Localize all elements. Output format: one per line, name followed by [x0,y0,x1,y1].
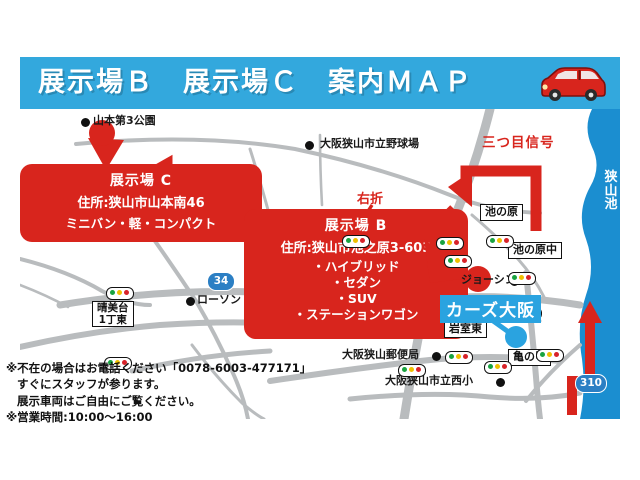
poi-marker-lawson [186,297,195,306]
traffic-light-icon [486,235,514,248]
poi-label-nishi-elementary: 大阪狭山市立西小 [385,375,473,387]
intersection-label-line1: 晴美台 [97,302,129,314]
page-title: 展示場Ｂ 展示場Ｃ 案内ＭＡＰ [38,62,548,104]
callout-b-vehicle-item: ・ステーションワゴン [244,307,468,323]
dealer-name-highlight: カーズ大阪 [440,295,541,323]
intersection-label-harumidai: 晴美台 1丁東 [92,301,134,327]
poi-label-post-office: 大阪狭山郵便局 [342,349,419,361]
map-flyer: 展示場Ｂ 展示場Ｃ 案内ＭＡＰ [0,0,640,480]
traffic-light-icon [445,351,473,364]
header-banner: 展示場Ｂ 展示場Ｃ 案内ＭＡＰ [20,57,620,109]
note-line-4: ※営業時間:10:00〜16:00 [6,409,306,425]
poi-label-lawson: ローソン [197,294,241,306]
red-car-icon [536,63,608,103]
poi-label-yamamoto-park: 山本第3公園 [93,115,156,127]
route-shield-34: 34 [207,272,235,291]
poi-marker-baseball-stadium [305,141,314,150]
callout-exhibit-b: 展示場 B 住所:狭山市池之原3-603 ・ハイブリッド ・セダン ・SUV ・… [244,209,468,339]
callout-c-address: 住所:狭山市山本南46 [20,192,262,211]
poi-label-baseball-stadium: 大阪狭山市立野球場 [320,138,419,150]
water-label-sayama-pond: 狭山池 [603,171,619,212]
traffic-light-icon [436,237,464,250]
callout-c-name: 展示場 C [20,170,262,190]
intersection-label-ikenohara: 池の原 [480,204,523,221]
traffic-light-icon [444,255,472,268]
poi-marker-nishi-elementary [496,378,505,387]
poi-marker-yamamoto-park [81,118,90,127]
note-line-2: すぐにスタッフが参ります。 [6,376,306,392]
traffic-light-icon [106,287,134,300]
dealer-location-dot [505,326,527,348]
footer-notes: ※不在の場合はお電話ください「0078-6003-477171」 すぐにスタッフ… [6,360,306,425]
note-line-1: ※不在の場合はお電話ください「0078-6003-477171」 [6,360,306,376]
annotation-turn-right: 右折 [357,188,383,207]
intersection-label-iwamuro-higashi: 岩室東 [444,321,487,338]
traffic-light-icon [484,361,512,374]
intersection-label-ikenohara-naka: 池の原中 [508,242,562,259]
traffic-light-icon [398,364,426,377]
intersection-label-line2: 1丁東 [97,314,129,326]
note-line-3: 展示車両はご自由にご覧ください。 [6,393,306,409]
route-shield-310: 310 [575,374,607,393]
callout-c-vehicles: ミニバン・軽・コンパクト [20,213,262,232]
traffic-light-icon [536,349,564,362]
poi-marker-post-office [432,352,441,361]
traffic-light-icon [508,272,536,285]
callout-exhibit-c: 展示場 C 住所:狭山市山本南46 ミニバン・軽・コンパクト [20,164,262,242]
annotation-third-signal: 三つ目信号 [482,131,555,151]
callout-c-pointer [80,120,132,170]
traffic-light-icon [342,235,370,248]
